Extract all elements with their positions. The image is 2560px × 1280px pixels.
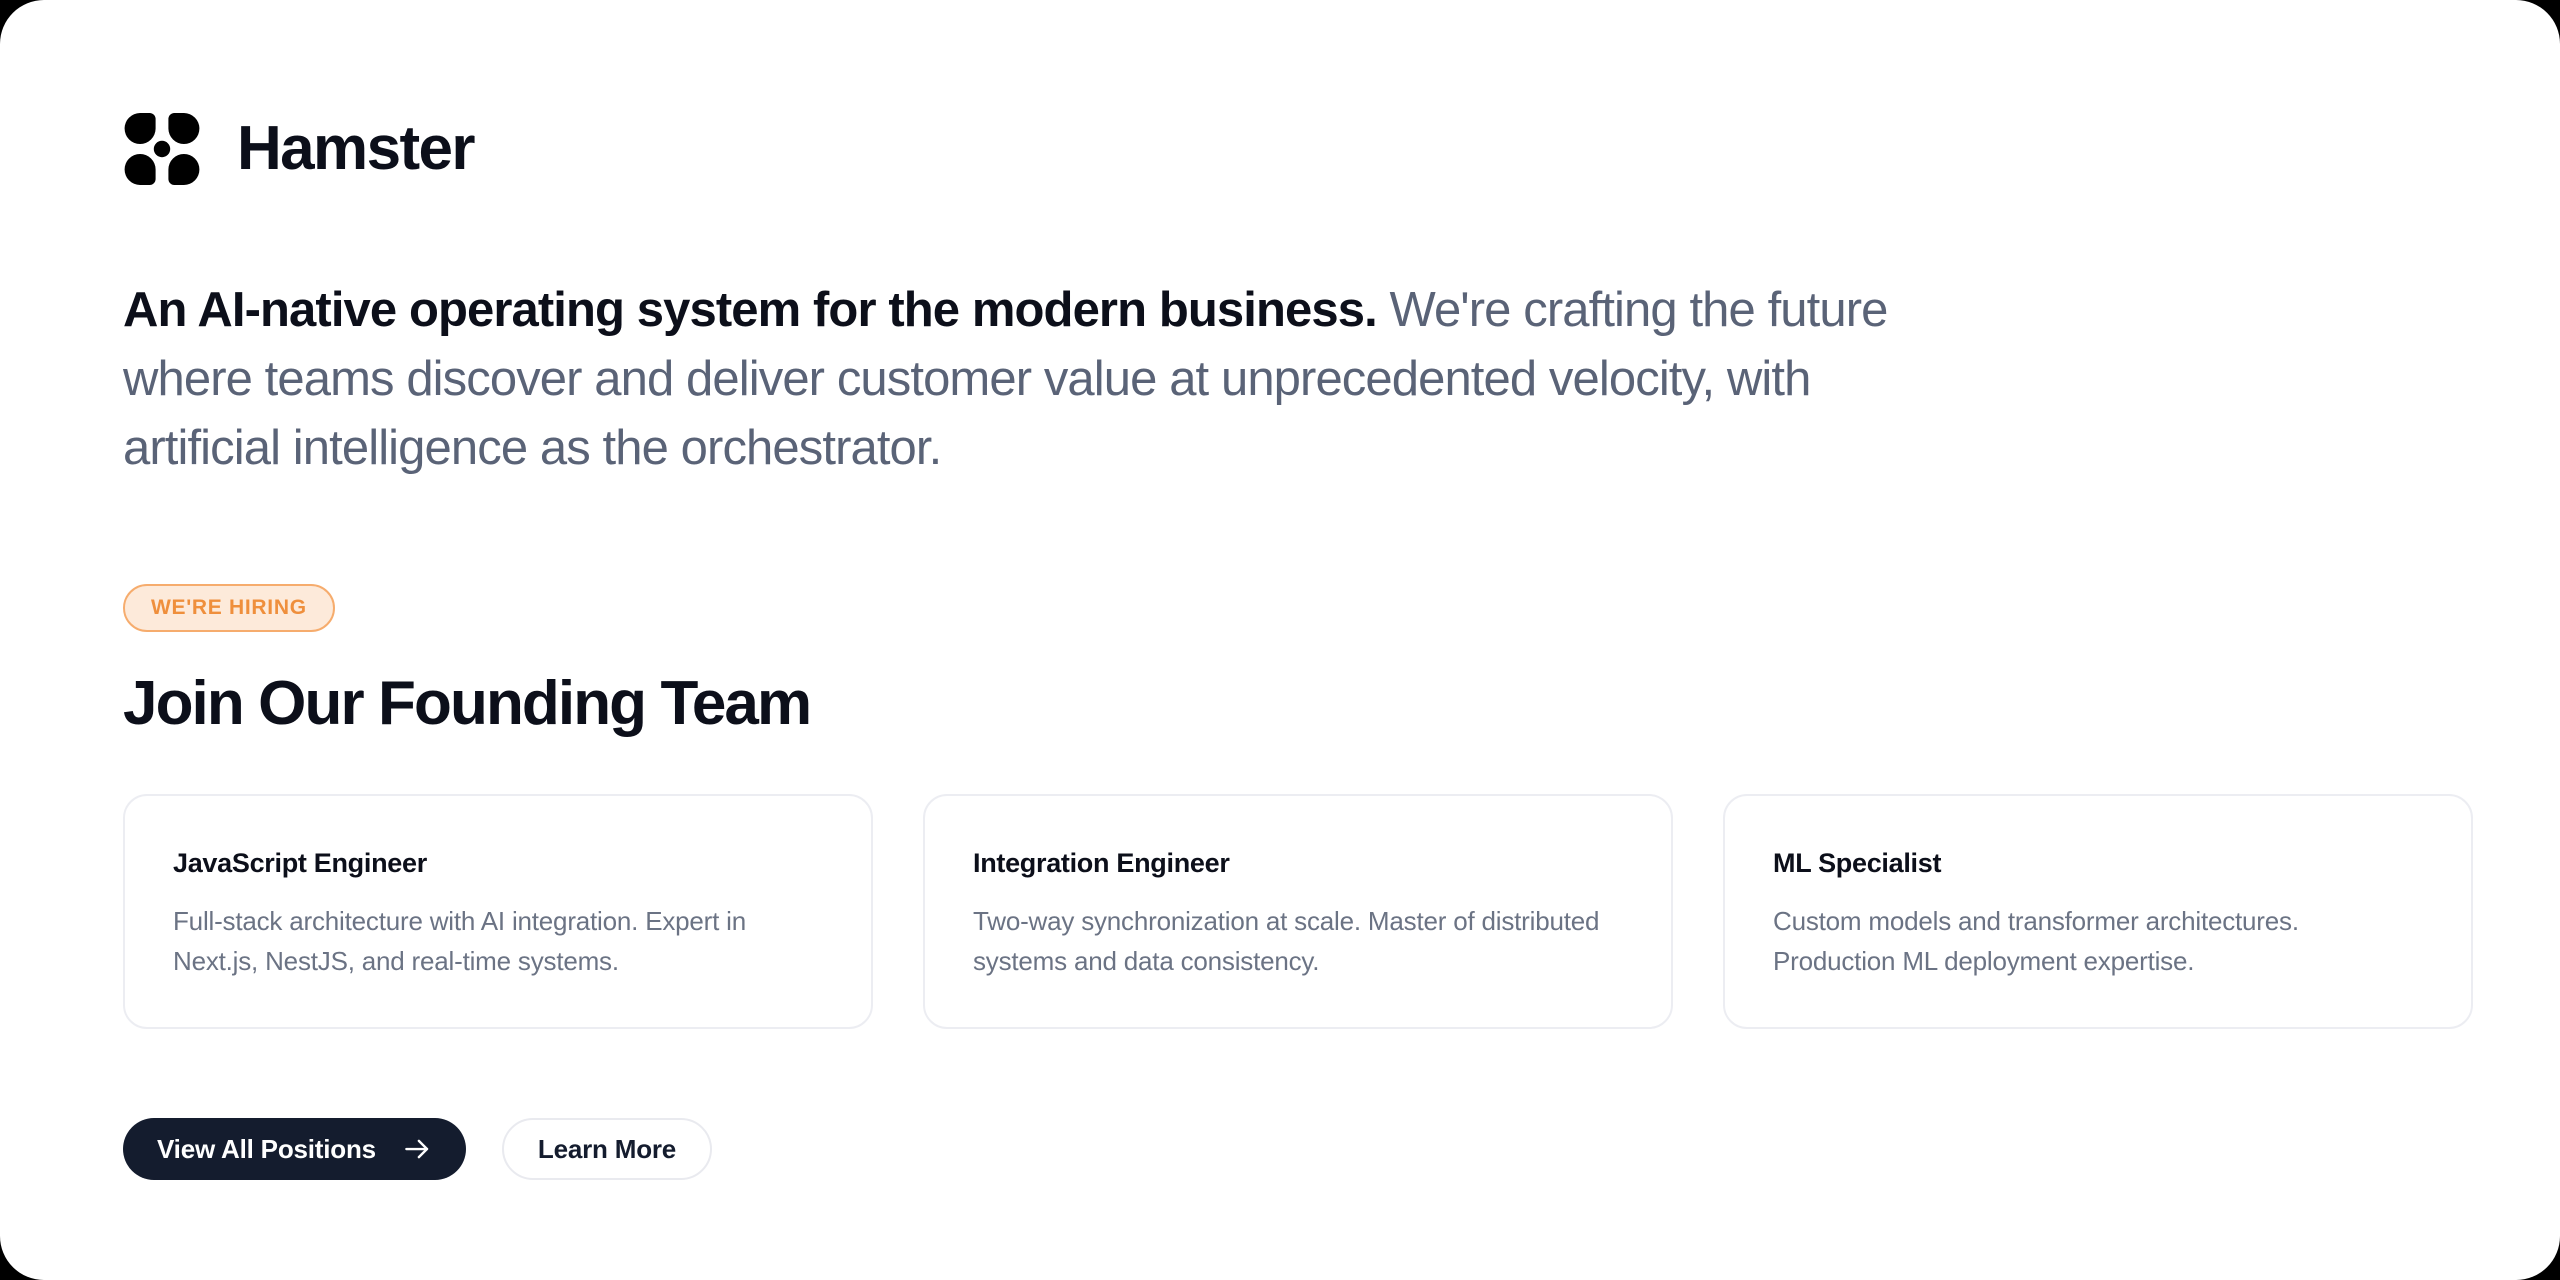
brand-name: Hamster	[237, 118, 474, 180]
role-card-title: Integration Engineer	[973, 848, 1623, 879]
page-headline: An AI-native operating system for the mo…	[123, 276, 1923, 483]
headline-lead: An AI-native operating system for the mo…	[123, 283, 1377, 337]
role-card-title: ML Specialist	[1773, 848, 2423, 879]
brand-logo[interactable]: Hamster	[123, 110, 474, 188]
role-card-list: JavaScript Engineer Full-stack architect…	[123, 794, 2473, 1029]
role-card-description: Full-stack architecture with AI integrat…	[173, 901, 823, 981]
view-all-positions-button[interactable]: View All Positions	[123, 1118, 466, 1180]
view-all-positions-label: View All Positions	[157, 1134, 376, 1165]
page-root: Hamster An AI-native operating system fo…	[0, 0, 2560, 1280]
role-card-javascript-engineer[interactable]: JavaScript Engineer Full-stack architect…	[123, 794, 873, 1029]
role-card-description: Custom models and transformer architectu…	[1773, 901, 2423, 981]
learn-more-button[interactable]: Learn More	[502, 1118, 712, 1180]
role-card-title: JavaScript Engineer	[173, 848, 823, 879]
page-title: Join Our Founding Team	[123, 668, 810, 739]
role-card-integration-engineer[interactable]: Integration Engineer Two-way synchroniza…	[923, 794, 1673, 1029]
four-petal-flower-logo-icon	[123, 110, 201, 188]
action-button-group: View All Positions Learn More	[123, 1118, 712, 1180]
role-card-description: Two-way synchronization at scale. Master…	[973, 901, 1623, 981]
arrow-right-icon	[402, 1134, 432, 1164]
role-card-ml-specialist[interactable]: ML Specialist Custom models and transfor…	[1723, 794, 2473, 1029]
status-badge-hiring: WE'RE HIRING	[123, 584, 335, 632]
